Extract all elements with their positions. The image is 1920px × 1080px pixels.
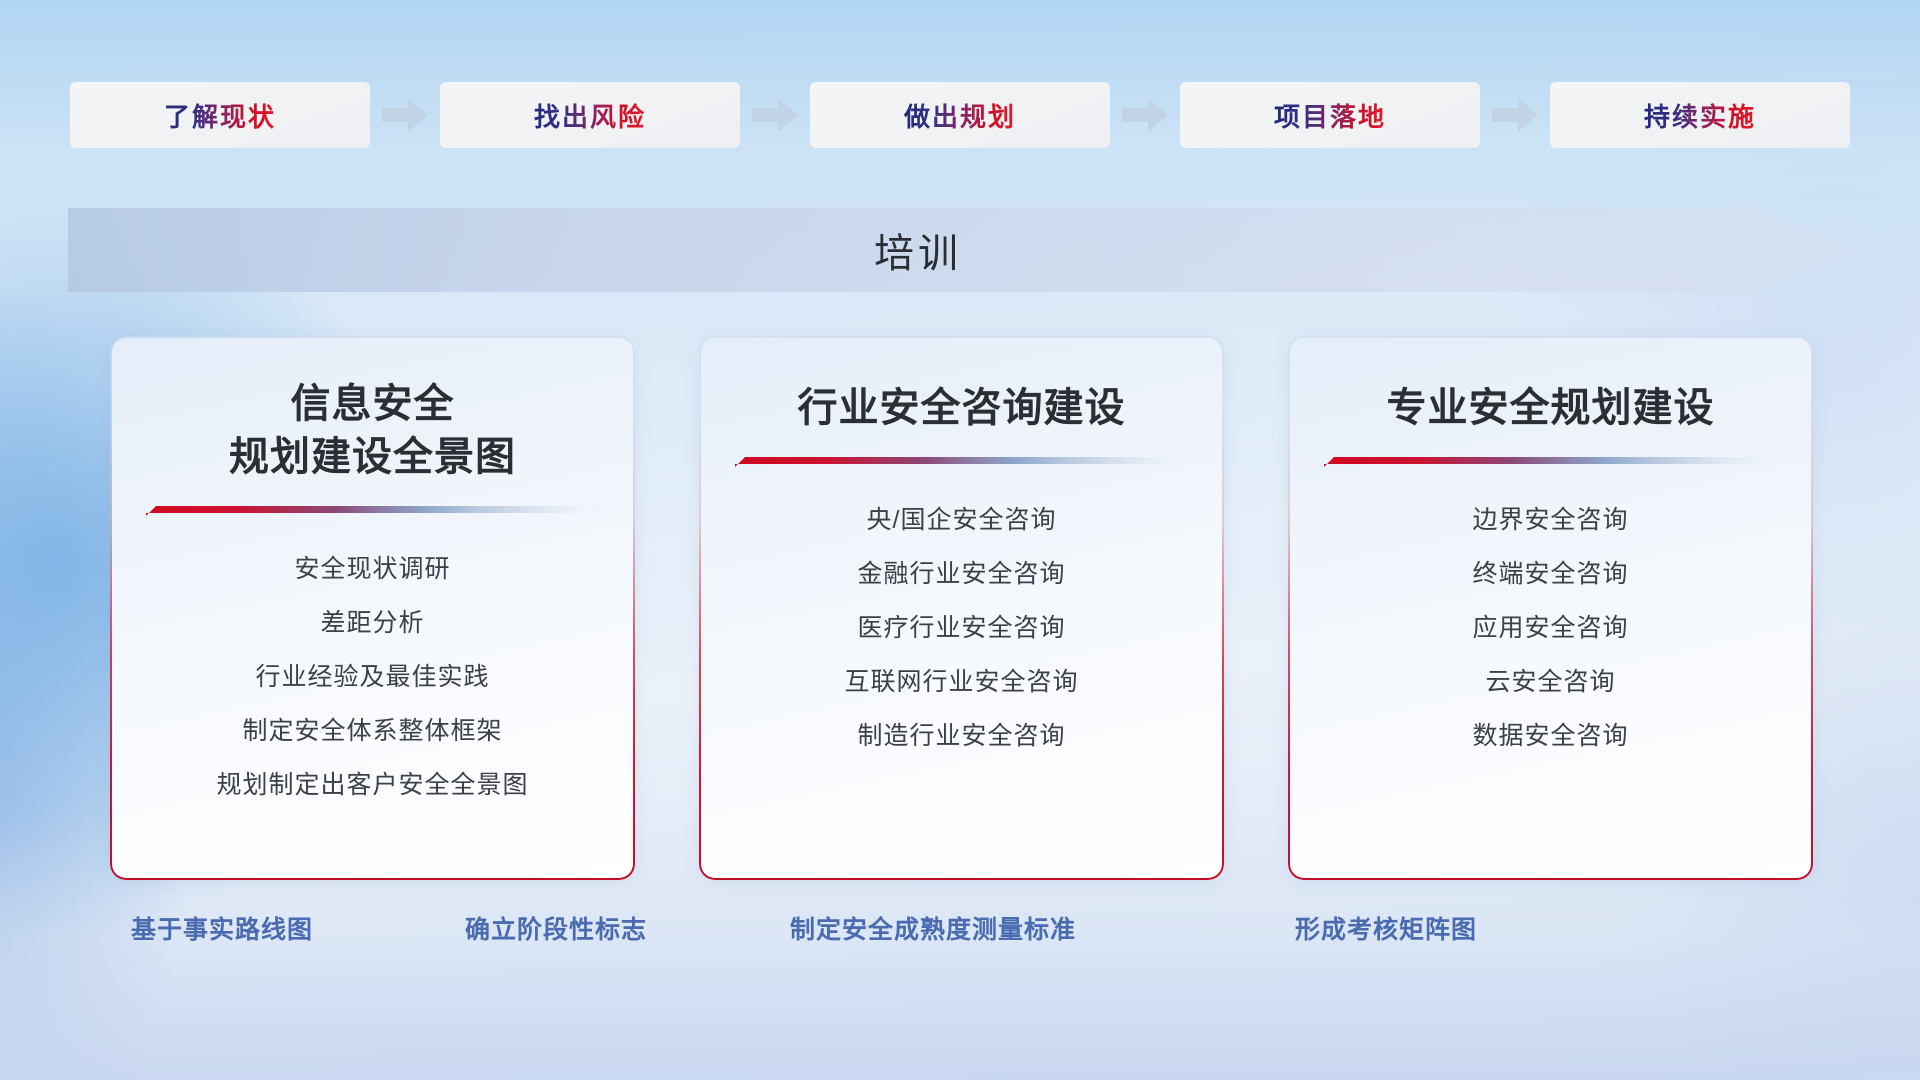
process-step-row: 了解现状 找出风险 做出规划 项目落地 xyxy=(68,80,1852,150)
gradient-divider-icon xyxy=(144,504,602,518)
footnote-label: 基于事实路线图 xyxy=(131,910,313,946)
step-box-4[interactable]: 项目落地 xyxy=(1178,80,1482,150)
step-label: 做出规划 xyxy=(904,97,1016,134)
diagram-stage: 了解现状 找出风险 做出规划 项目落地 xyxy=(0,0,1920,1080)
card-title: 专业安全规划建设 xyxy=(1387,382,1715,435)
training-banner: 培训 xyxy=(68,202,1858,298)
step-box-3[interactable]: 做出规划 xyxy=(808,80,1112,150)
list-item: 边界安全咨询 xyxy=(1472,495,1628,545)
step-label: 持续实施 xyxy=(1644,97,1756,134)
list-item: 互联网行业安全咨询 xyxy=(844,657,1078,707)
list-item: 差距分析 xyxy=(320,598,424,648)
step-label: 了解现状 xyxy=(164,97,276,134)
list-item: 制定安全体系整体框架 xyxy=(242,706,502,756)
list-item: 终端安全咨询 xyxy=(1472,549,1628,599)
card-professional-security-planning[interactable]: 专业安全规划建设 xyxy=(1290,338,1811,878)
right-arrow-icon xyxy=(372,80,438,150)
list-item: 规划制定出客户安全全景图 xyxy=(216,760,528,810)
list-item: 安全现状调研 xyxy=(294,544,450,594)
list-item: 制造行业安全咨询 xyxy=(857,711,1065,761)
step-box-2[interactable]: 找出风险 xyxy=(438,80,742,150)
card-info-security-blueprint[interactable]: 信息安全 规划建设全景图 xyxy=(112,338,633,878)
step-label: 项目落地 xyxy=(1274,97,1386,134)
gradient-divider-icon xyxy=(733,455,1191,469)
card-industry-security-consulting[interactable]: 行业安全咨询建设 xyxy=(701,338,1222,878)
step-label: 找出风险 xyxy=(534,97,646,134)
footnote-label: 制定安全成熟度测量标准 xyxy=(790,910,1076,946)
card-item-list: 安全现状调研 差距分析 行业经验及最佳实践 制定安全体系整体框架 规划制定出客户… xyxy=(138,544,607,810)
footnote-row: 基于事实路线图 确立阶段性标志 制定安全成熟度测量标准 形成考核矩阵图 xyxy=(0,910,1920,960)
list-item: 金融行业安全咨询 xyxy=(857,549,1065,599)
list-item: 央/国企安全咨询 xyxy=(867,495,1057,545)
footnote-label: 形成考核矩阵图 xyxy=(1295,910,1477,946)
card-item-list: 边界安全咨询 终端安全咨询 应用安全咨询 云安全咨询 数据安全咨询 xyxy=(1316,495,1785,761)
list-item: 行业经验及最佳实践 xyxy=(255,652,489,702)
step-box-1[interactable]: 了解现状 xyxy=(68,80,372,150)
list-item: 数据安全咨询 xyxy=(1472,711,1628,761)
card-row: 信息安全 规划建设全景图 xyxy=(112,338,1812,878)
footnote-label: 确立阶段性标志 xyxy=(465,910,647,946)
banner-title: 培训 xyxy=(68,202,1768,298)
card-item-list: 央/国企安全咨询 金融行业安全咨询 医疗行业安全咨询 互联网行业安全咨询 制造行… xyxy=(727,495,1196,761)
list-item: 应用安全咨询 xyxy=(1472,603,1628,653)
right-arrow-icon xyxy=(1482,80,1548,150)
gradient-divider-icon xyxy=(1322,455,1780,469)
right-arrow-icon xyxy=(742,80,808,150)
step-box-5[interactable]: 持续实施 xyxy=(1548,80,1852,150)
card-title: 信息安全 规划建设全景图 xyxy=(229,378,516,484)
card-title: 行业安全咨询建设 xyxy=(798,382,1126,435)
right-arrow-icon xyxy=(1112,80,1178,150)
list-item: 医疗行业安全咨询 xyxy=(857,603,1065,653)
list-item: 云安全咨询 xyxy=(1485,657,1615,707)
